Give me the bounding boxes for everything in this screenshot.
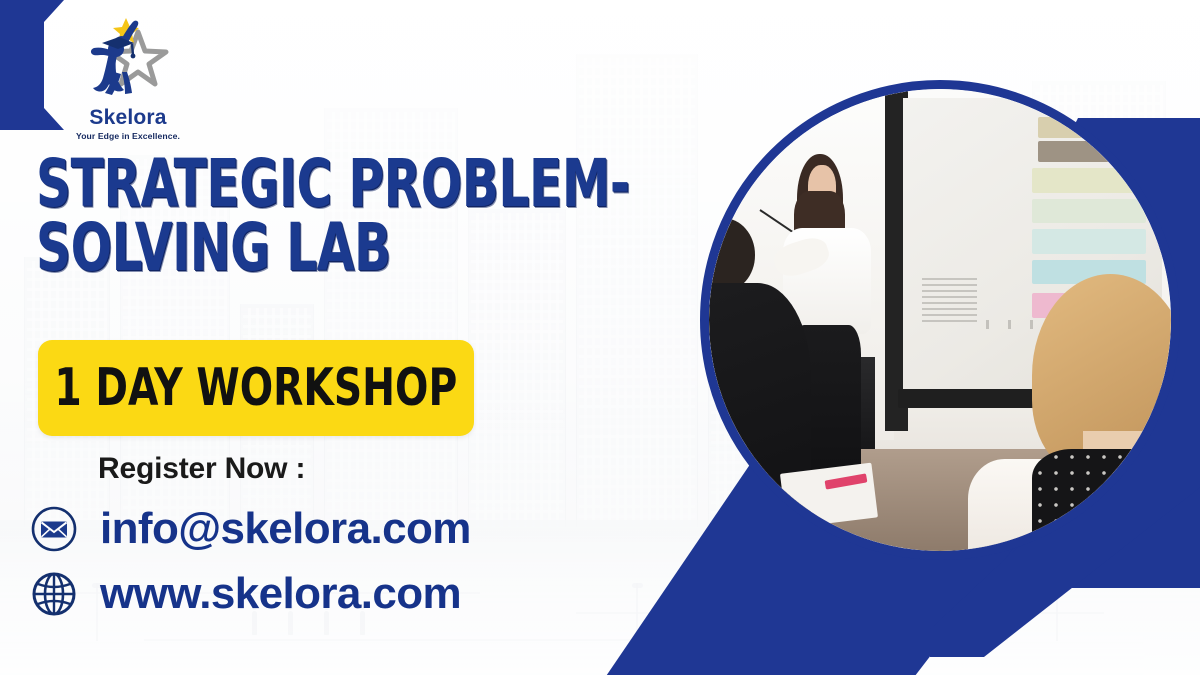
envelope-icon xyxy=(30,505,78,553)
register-now-label: Register Now : xyxy=(98,452,305,486)
contact-website-row[interactable]: www.skelora.com xyxy=(30,570,461,618)
duration-badge-label: 1 DAY WORKSHOP xyxy=(55,358,458,418)
headline-line-1: STRATEGIC PROBLEM- xyxy=(36,152,561,216)
graduate-star-icon xyxy=(76,14,180,106)
duration-badge: 1 DAY WORKSHOP xyxy=(38,340,474,436)
brand-logo: Skelora Your Edge in Excellence. xyxy=(62,14,194,141)
headline-line-2: SOLVING LAB xyxy=(36,216,561,280)
globe-icon xyxy=(30,570,78,618)
brand-name: Skelora xyxy=(62,107,194,128)
email-address[interactable]: info@skelora.com xyxy=(100,507,471,551)
page-title: STRATEGIC PROBLEM- SOLVING LAB xyxy=(36,152,676,280)
event-promo-banner: Skelora Your Edge in Excellence. STRATEG… xyxy=(0,0,1200,675)
brand-tagline: Your Edge in Excellence. xyxy=(62,131,194,141)
contact-email-row[interactable]: info@skelora.com xyxy=(30,505,471,553)
website-url[interactable]: www.skelora.com xyxy=(100,572,461,616)
presenter-photo xyxy=(700,80,1180,560)
